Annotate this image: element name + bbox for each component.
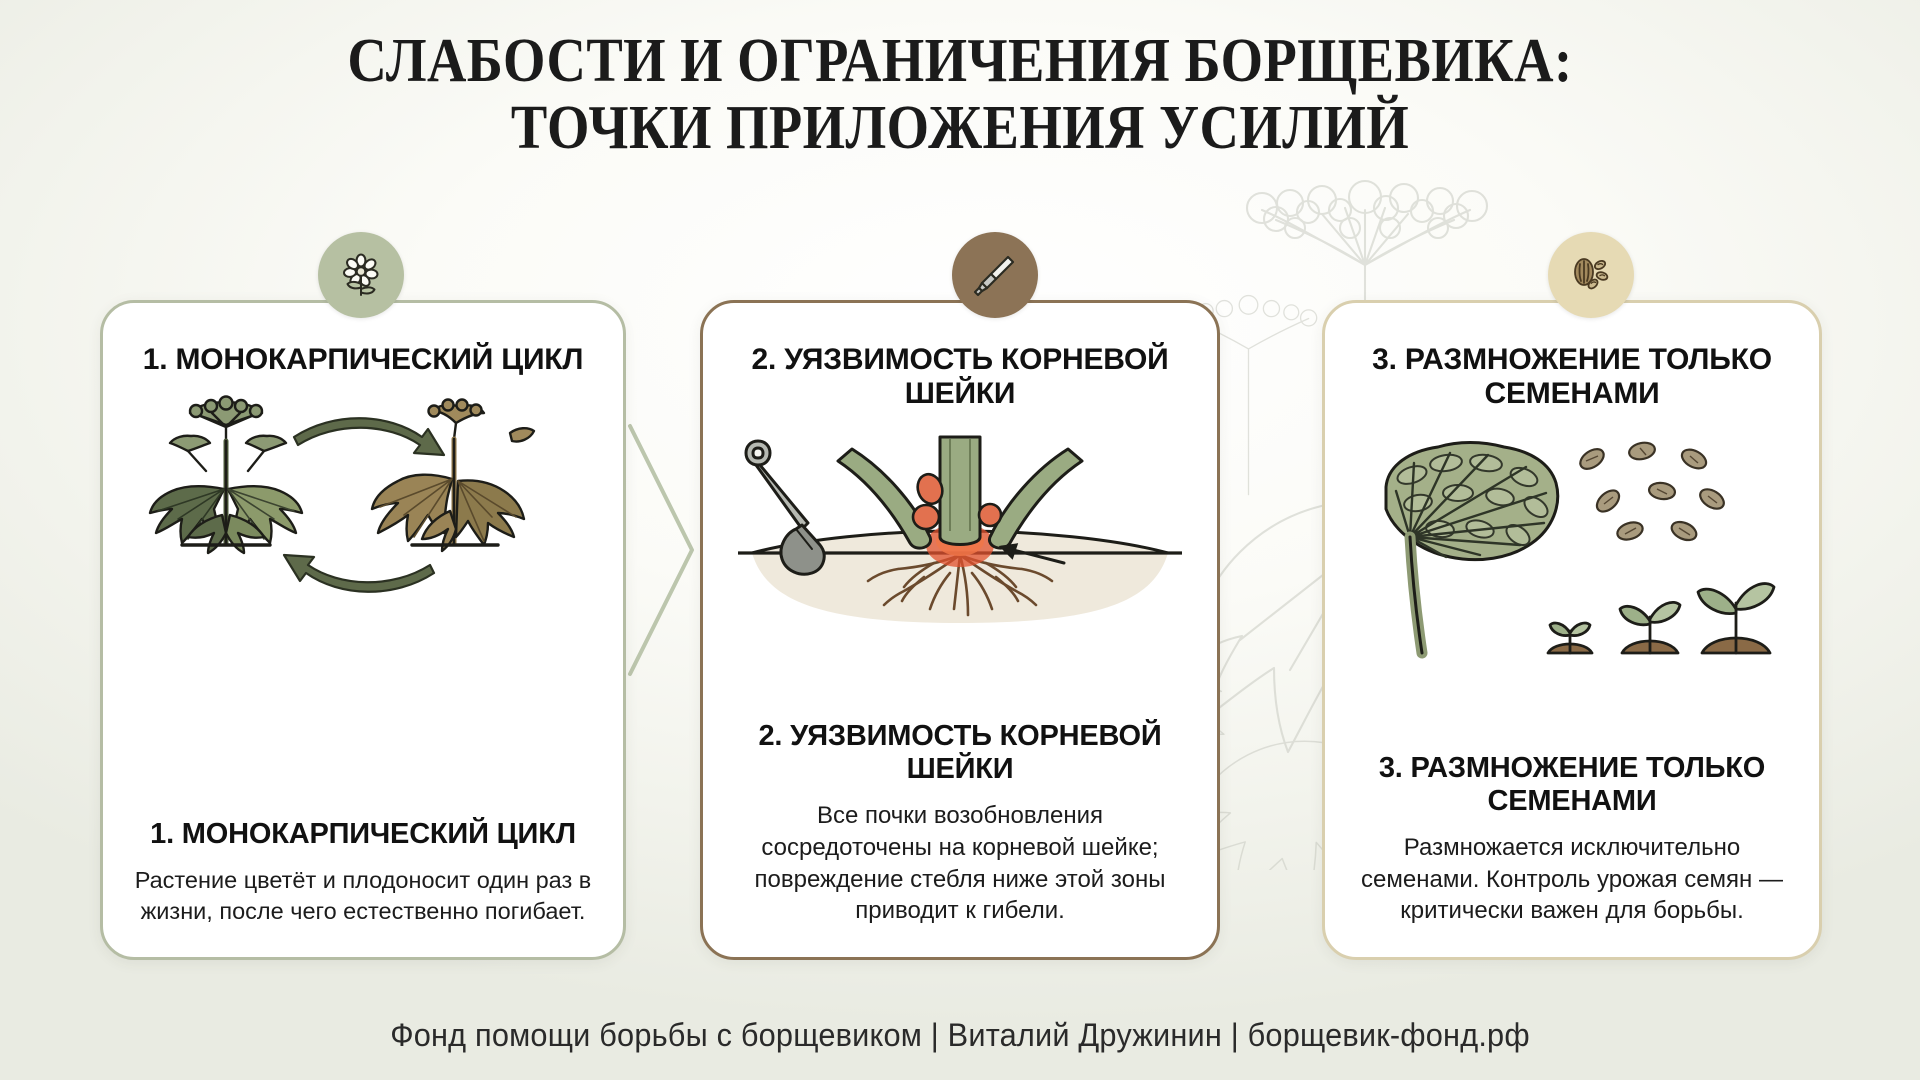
card-3-illustration bbox=[1354, 427, 1790, 665]
card-1-subheading: 1. МОНОКАРПИЧЕСКИЙ ЦИКЛ bbox=[150, 818, 576, 851]
card-3-heading: 3. РАЗМНОЖЕНИЕ ТОЛЬКО СЕМЕНАМИ bbox=[1347, 343, 1797, 411]
card-2-illustration bbox=[734, 427, 1186, 657]
card-1-illustration bbox=[148, 393, 578, 633]
card-2-body: Все почки возобновления сосредоточены на… bbox=[725, 800, 1195, 927]
cards-row: 1. МОНОКАРПИЧЕСКИЙ ЦИКЛ bbox=[0, 300, 1920, 960]
card-3-badge bbox=[1548, 232, 1634, 318]
page-title-line-1: СЛАБОСТИ И ОГРАНИЧЕНИЯ БОРЩЕВИКА: bbox=[115, 28, 1805, 95]
seeds-icon bbox=[1567, 251, 1615, 299]
card-3-subheading: 3. РАЗМНОЖЕНИЕ ТОЛЬКО СЕМЕНАМИ bbox=[1347, 752, 1797, 818]
flower-icon bbox=[337, 251, 385, 299]
page-title: СЛАБОСТИ И ОГРАНИЧЕНИЯ БОРЩЕВИКА: ТОЧКИ … bbox=[0, 28, 1920, 162]
page-title-line-2: ТОЧКИ ПРИЛОЖЕНИЯ УСИЛИЙ bbox=[115, 95, 1805, 162]
card-2-badge bbox=[952, 232, 1038, 318]
card-seed-reproduction[interactable]: 3. РАЗМНОЖЕНИЕ ТОЛЬКО СЕМЕНАМИ bbox=[1322, 300, 1822, 960]
card-1-heading: 1. МОНОКАРПИЧЕСКИЙ ЦИКЛ bbox=[143, 343, 584, 377]
card-root-crown-vulnerability[interactable]: 2. УЯЗВИМОСТЬ КОРНЕВОЙ ШЕЙКИ bbox=[700, 300, 1220, 960]
card-2-heading: 2. УЯЗВИМОСТЬ КОРНЕВОЙ ШЕЙКИ bbox=[725, 343, 1195, 411]
card-2-subheading: 2. УЯЗВИМОСТЬ КОРНЕВОЙ ШЕЙКИ bbox=[725, 720, 1195, 786]
card-monocarpic-cycle[interactable]: 1. МОНОКАРПИЧЕСКИЙ ЦИКЛ bbox=[100, 300, 626, 960]
card-3-body: Размножается исключительно семенами. Кон… bbox=[1347, 832, 1797, 927]
card-1-badge bbox=[318, 232, 404, 318]
shovel-icon bbox=[971, 251, 1019, 299]
footer-credit: Фонд помощи борьбы с борщевиком | Витали… bbox=[38, 1017, 1881, 1054]
card-1-body: Растение цветёт и плодоносит один раз в … bbox=[125, 865, 601, 927]
